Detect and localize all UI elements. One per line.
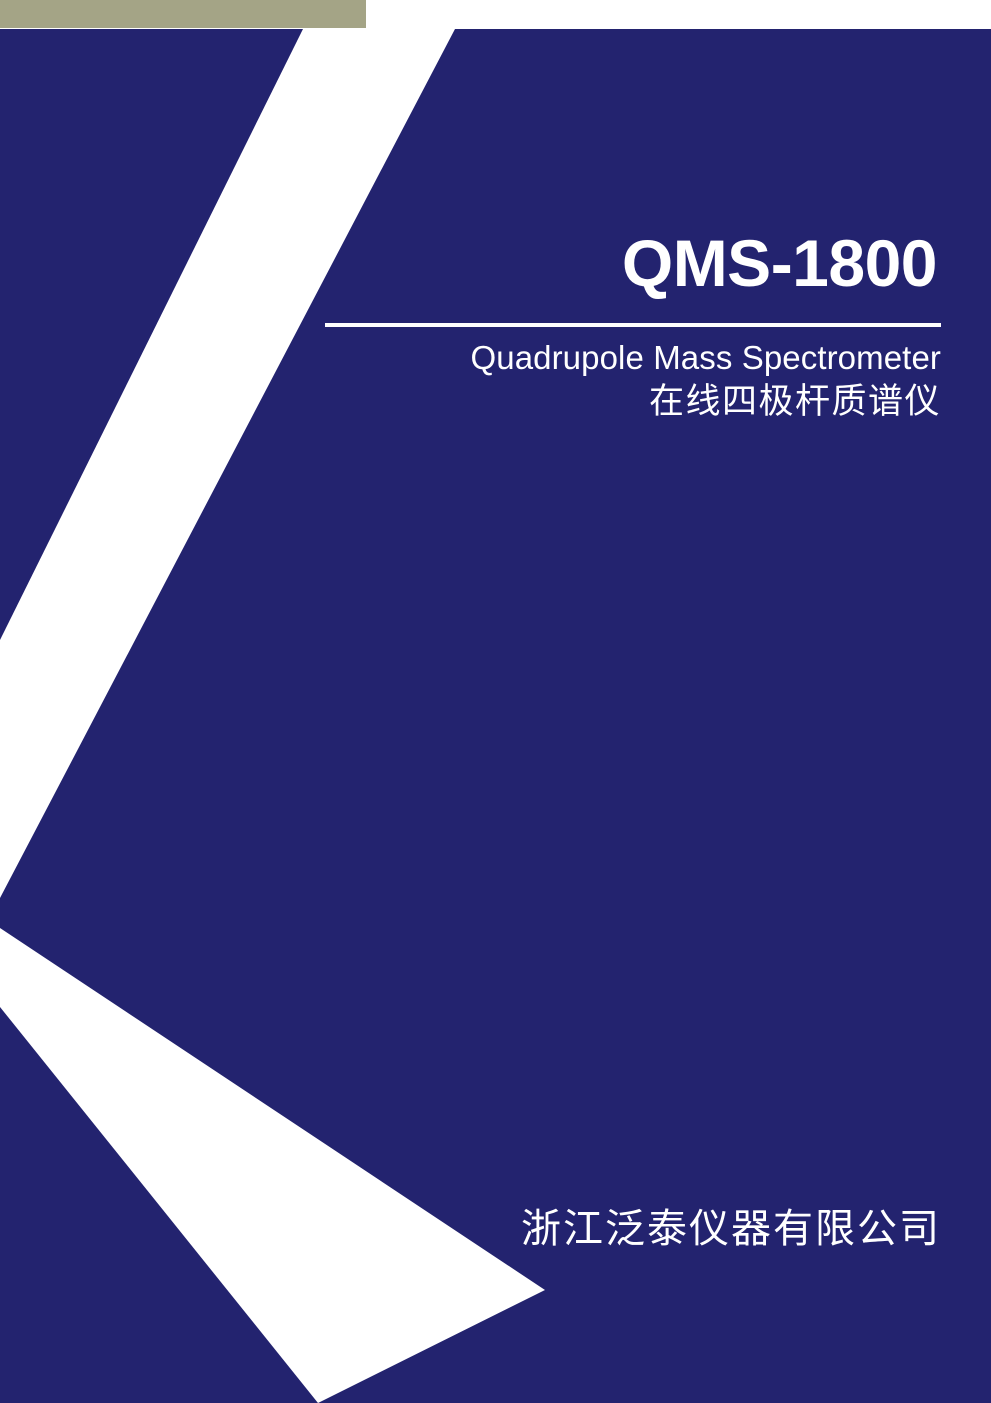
brochure-cover-page: QMS-1800 Quadrupole Mass Spectrometer 在线… [0, 0, 991, 1403]
product-title: QMS-1800 [325, 228, 941, 299]
company-name: 浙江泛泰仪器有限公司 [325, 1196, 941, 1254]
subtitle-chinese: 在线四极杆质谱仪 [325, 380, 941, 424]
cover-text-layer: QMS-1800 Quadrupole Mass Spectrometer 在线… [0, 0, 991, 1403]
company-block: 浙江泛泰仪器有限公司 [325, 1196, 941, 1254]
subtitle-english: Quadrupole Mass Spectrometer [325, 337, 941, 379]
title-block: QMS-1800 Quadrupole Mass Spectrometer 在线… [325, 228, 941, 423]
title-divider-rule [325, 323, 941, 327]
